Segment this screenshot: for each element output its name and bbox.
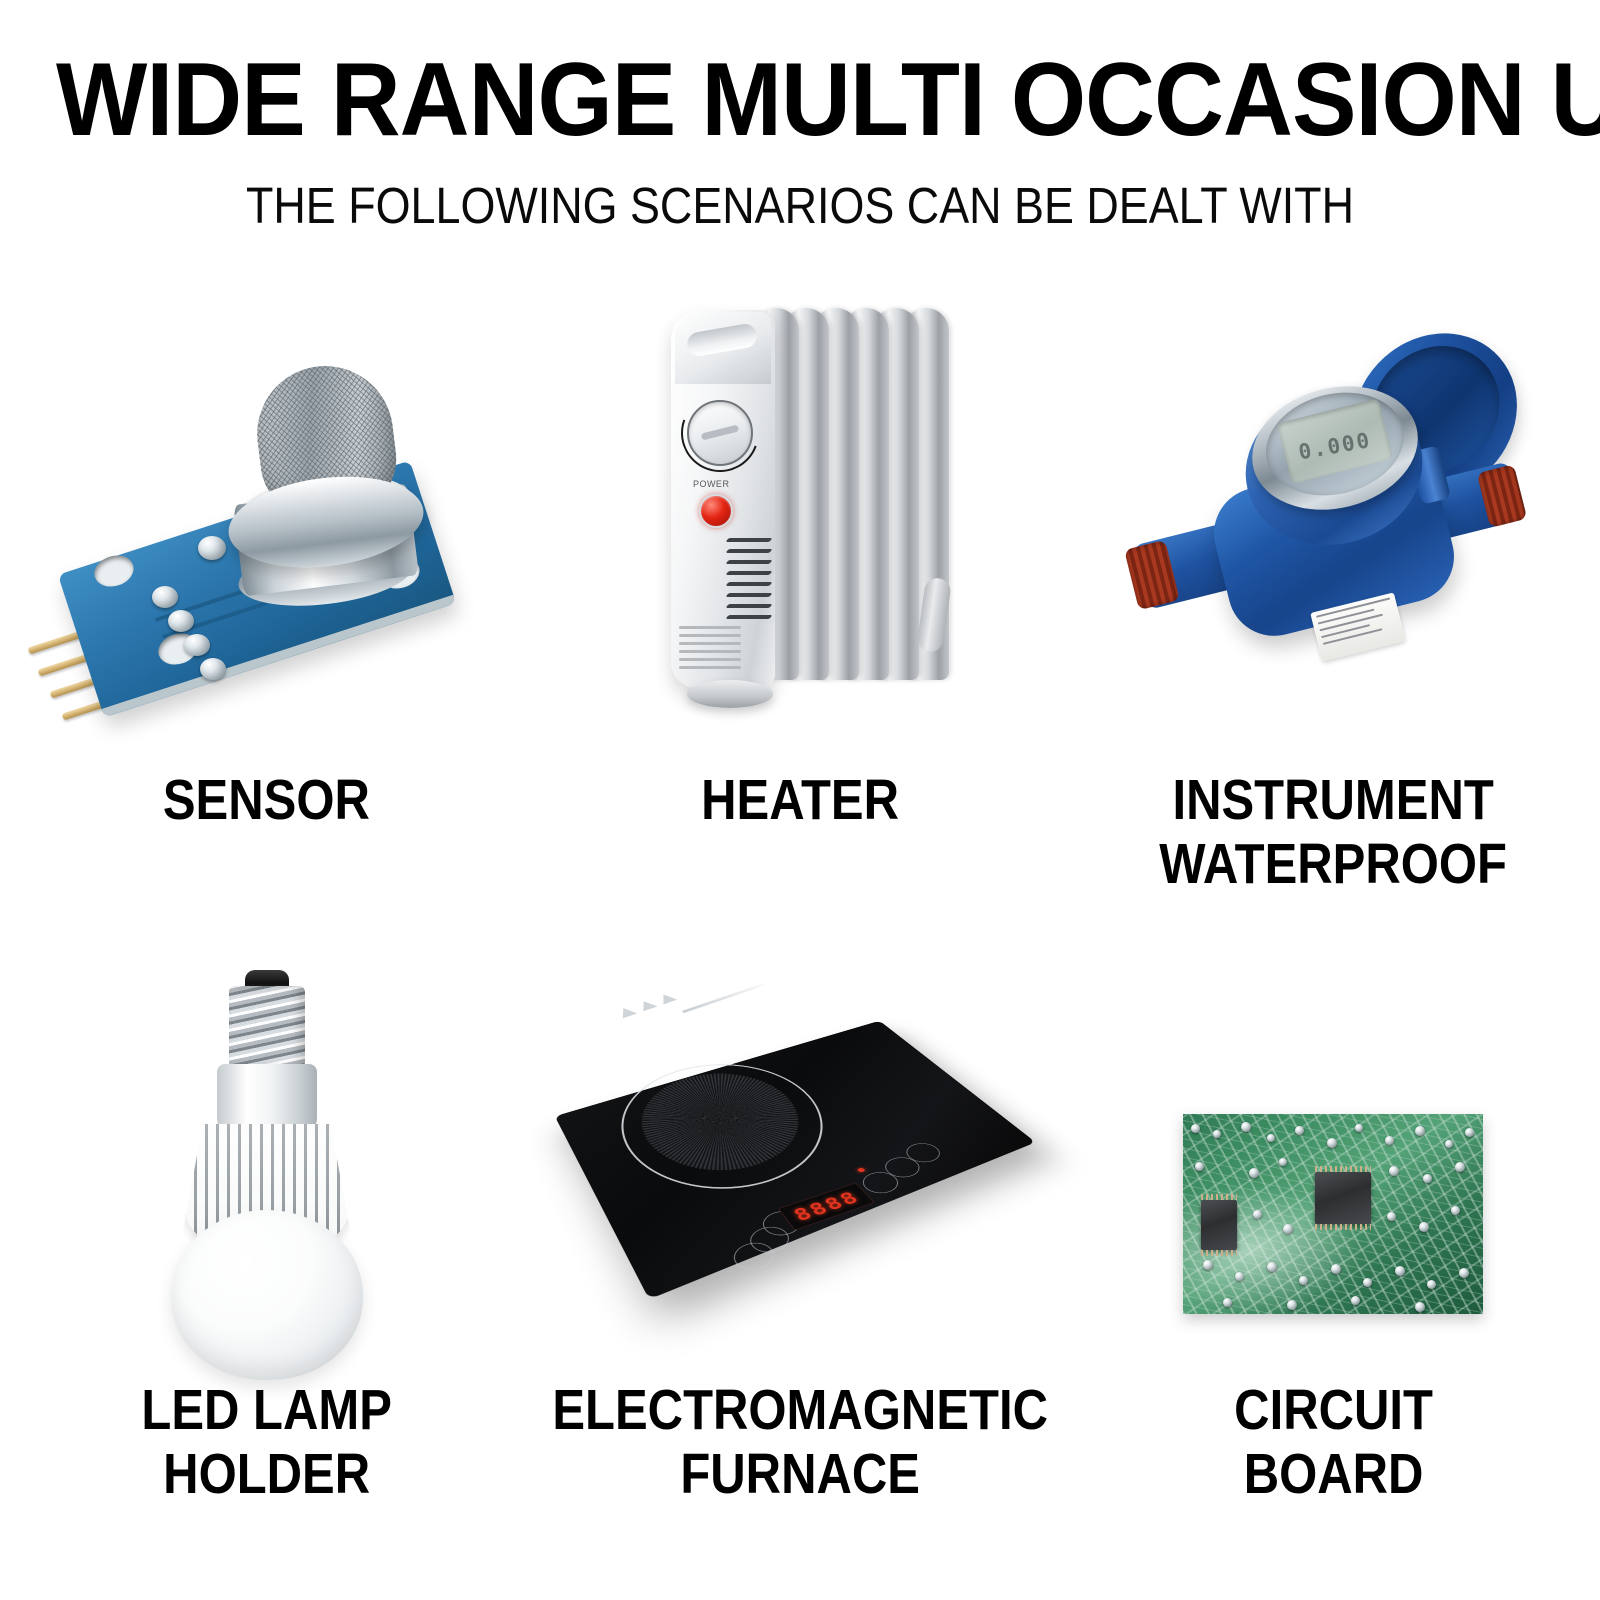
power-indicator-light [699, 494, 733, 528]
led-bulb-image-stage [0, 914, 533, 1314]
page-subtitle: THE FOLLOWING SCENARIOS CAN BE DEALT WIT… [96, 180, 1504, 231]
cooktop-display-value: 8888 [789, 1188, 864, 1225]
sensor-image-stage [0, 238, 533, 718]
product-cell-circuit-board: CIRCUIT BOARD [1067, 914, 1600, 1506]
induction-cooktop-image: 8888 [570, 974, 1030, 1314]
heater-fins [753, 308, 943, 680]
heater-vent-slots [727, 538, 771, 638]
led-lamp-caption: LED LAMP HOLDER [141, 1378, 392, 1506]
pcb-ic-secondary [1201, 1200, 1237, 1250]
sensor-caption: SENSOR [163, 768, 370, 832]
product-cell-instrument: 0.000 INSTRUMENT WATERPROOF [1067, 238, 1600, 896]
meter-lcd-value: 0.000 [1297, 428, 1373, 464]
cooktop-digital-display: 8888 [778, 1183, 875, 1231]
led-bulb-image [137, 964, 397, 1314]
heater-caption: HEATER [701, 768, 899, 832]
pcb-image-stage [1067, 914, 1600, 1314]
bulb-screw-base [229, 986, 305, 1068]
furnace-caption: ELECTROMAGNETIC FURNACE [552, 1378, 1048, 1506]
product-row-top: SENSOR [0, 238, 1600, 896]
water-meter-image: 0.000 [1123, 318, 1543, 718]
circuit-board-caption: CIRCUIT BOARD [1234, 1378, 1433, 1506]
induction-cooktop-image-stage: 8888 [533, 914, 1066, 1314]
pcb-ic-main [1315, 1172, 1371, 1224]
product-cell-sensor: SENSOR [0, 238, 533, 896]
product-cell-led-lamp: LED LAMP HOLDER [0, 914, 533, 1506]
instrument-caption: INSTRUMENT WATERPROOF [1159, 768, 1507, 896]
heater-image-stage: POWER [533, 238, 1066, 718]
product-row-bottom: LED LAMP HOLDER [0, 914, 1600, 1506]
warning-icon [616, 992, 677, 1018]
gas-sensor-module-image [32, 318, 502, 718]
product-cell-heater: POWER HEATER [533, 238, 1066, 896]
product-cell-furnace: 8888 ELECTROMAGNETIC FURNACE [533, 914, 1066, 1506]
bulb-diffuser-dome [171, 1210, 363, 1380]
heater-foot [687, 680, 773, 708]
header: WIDE RANGE MULTI OCCASION USE THE FOLLOW… [0, 0, 1600, 231]
pcb-closeup-image [1183, 1114, 1483, 1314]
cooktop-status-led [857, 1167, 866, 1172]
power-label: POWER [693, 479, 730, 489]
thermostat-dial [687, 400, 753, 466]
water-meter-image-stage: 0.000 [1067, 238, 1600, 718]
heater-base-vent [679, 626, 741, 670]
oil-radiator-heater-image: POWER [635, 288, 965, 718]
page-title: WIDE RANGE MULTI OCCASION USE [56, 48, 1544, 152]
product-grid: SENSOR [0, 238, 1600, 1506]
infographic-page: WIDE RANGE MULTI OCCASION USE THE FOLLOW… [0, 0, 1600, 1600]
